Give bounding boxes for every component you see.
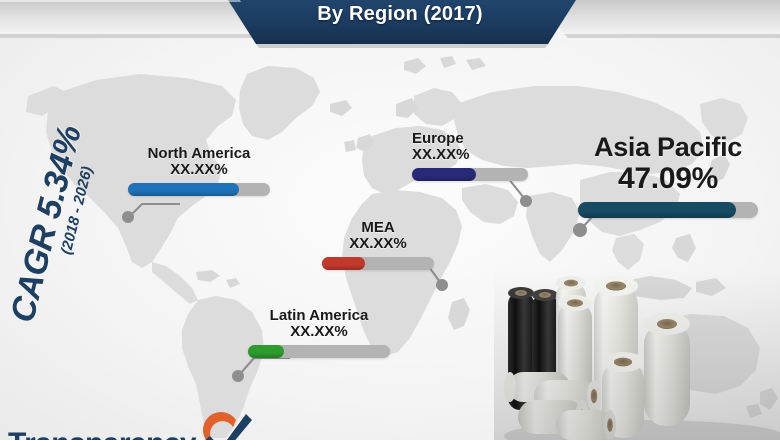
- region-bar-track-europe: [412, 168, 528, 181]
- region-label-asia-pacific: Asia Pacific: [578, 133, 758, 162]
- region-label-mea: MEA: [322, 220, 434, 236]
- page-title: By Region (2017): [255, 3, 545, 26]
- roll-white-horizontal-2: [534, 380, 601, 412]
- roll-black-2: [532, 289, 558, 410]
- region-bar-fill-north-america: [128, 183, 239, 196]
- roll-white-2: [558, 295, 592, 418]
- roll-white-center: [594, 276, 638, 424]
- roll-white-horizontal-4: [556, 410, 616, 440]
- region-callout-latin-america[interactable]: Latin America XX.XX%: [248, 308, 390, 358]
- region-label-europe: Europe: [412, 131, 528, 147]
- region-value-asia-pacific: 47.09%: [578, 162, 758, 195]
- checkmark-arrow-icon: [200, 410, 256, 440]
- roll-black-1: [508, 287, 534, 410]
- cagr-callout: CAGR 5.34% (2018 - 2026): [3, 65, 124, 332]
- region-callout-europe[interactable]: Europe XX.XX%: [412, 131, 528, 181]
- brand-logo[interactable]: Transparency: [8, 410, 256, 440]
- region-bar-fill-europe: [412, 168, 476, 181]
- region-bar-track-north-america: [128, 183, 270, 196]
- region-callout-north-america[interactable]: North America XX.XX%: [128, 146, 270, 196]
- region-bar-track-mea: [322, 257, 434, 270]
- region-label-north-america: North America: [128, 146, 270, 162]
- product-image-stretch-film-rolls: [494, 268, 780, 440]
- region-bar-track-latin-america: [248, 345, 390, 358]
- region-label-latin-america: Latin America: [248, 308, 390, 324]
- region-value-mea: XX.XX%: [322, 236, 434, 253]
- infographic-canvas: By Region (2017) CAGR 5.34% (2018 - 2026…: [0, 0, 780, 440]
- region-bar-track-asia-pacific: [578, 202, 758, 218]
- region-callout-asia-pacific[interactable]: Asia Pacific 47.09%: [578, 133, 758, 218]
- roll-white-horizontal-3: [518, 400, 589, 434]
- roll-white-horizontal-1: [504, 372, 570, 402]
- region-value-latin-america: XX.XX%: [248, 324, 390, 341]
- roll-white-front-center: [602, 352, 644, 438]
- roll-white-1: [556, 276, 586, 412]
- region-bar-fill-mea: [322, 257, 365, 270]
- region-value-north-america: XX.XX%: [128, 162, 270, 179]
- region-bar-fill-asia-pacific: [578, 202, 736, 218]
- region-value-europe: XX.XX%: [412, 147, 528, 164]
- brand-wordmark: Transparency: [8, 432, 196, 440]
- roll-white-right: [644, 313, 690, 426]
- region-bar-fill-latin-america: [248, 345, 284, 358]
- region-callout-mea[interactable]: MEA XX.XX%: [322, 220, 434, 270]
